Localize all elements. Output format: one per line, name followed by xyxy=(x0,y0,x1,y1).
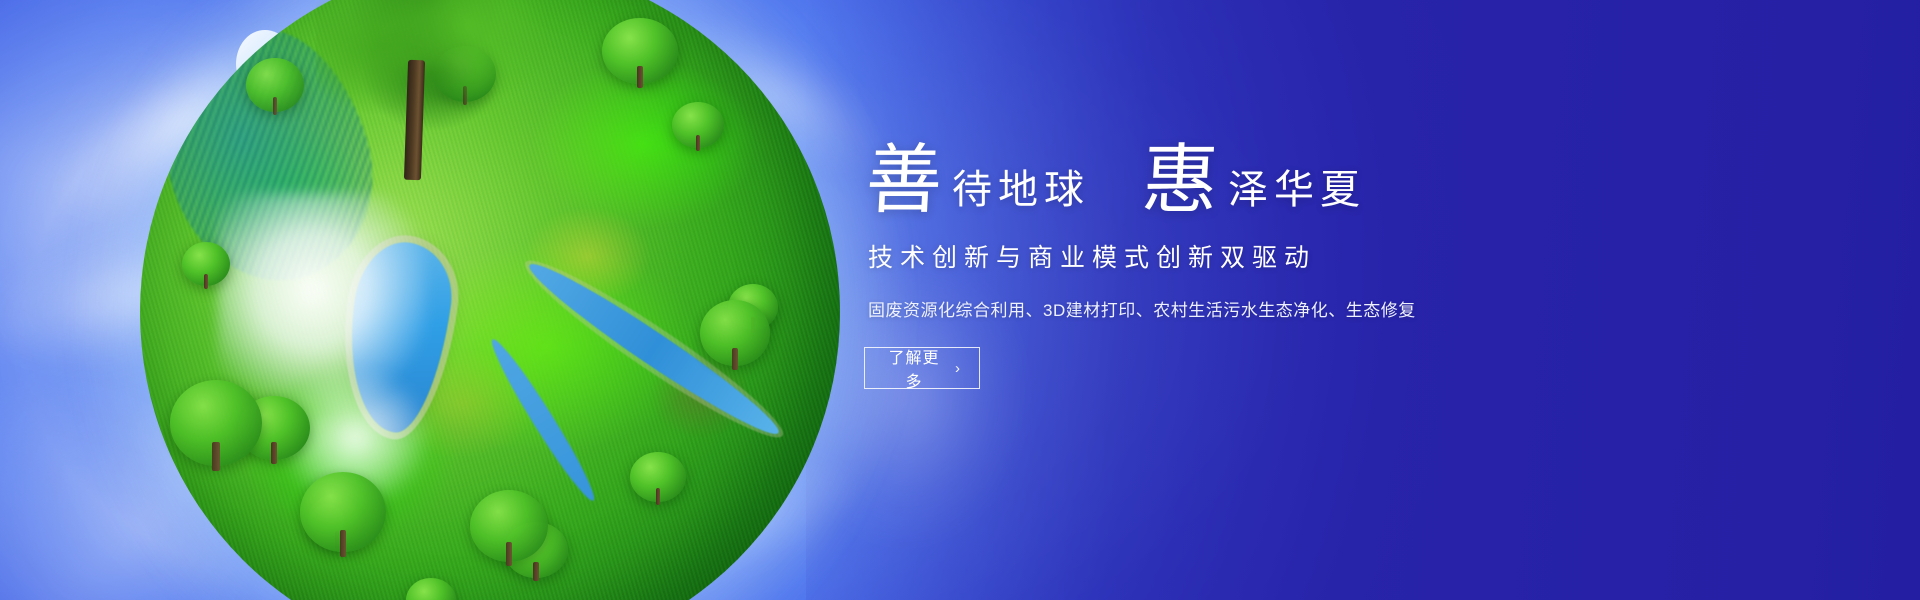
headline-accent-2: 惠 xyxy=(1140,145,1220,218)
learn-more-label: 了解更多 xyxy=(883,344,945,392)
learn-more-button[interactable]: 了解更多 › xyxy=(864,347,980,389)
tree-icon xyxy=(300,472,386,552)
tree-icon xyxy=(602,18,678,84)
tree-icon xyxy=(700,300,770,366)
headline-rest-2: 泽华夏 xyxy=(1218,170,1366,218)
page-title: 善 待地球 惠 泽华夏 xyxy=(866,126,1582,218)
tree-icon xyxy=(316,0,546,130)
hero-description: 固废资源化综合利用、3D建材打印、农村生活污水生态净化、生态修复 xyxy=(868,296,1582,321)
headline-phrase-2: 惠 泽华夏 xyxy=(1142,145,1366,218)
tree-icon xyxy=(246,58,304,112)
tree-icon xyxy=(182,242,230,286)
headline-phrase-1: 善 待地球 xyxy=(866,145,1090,218)
hero-content: 善 待地球 惠 泽华夏 技术创新与商业模式创新双驱动 固废资源化综合利用、3D建… xyxy=(862,126,1582,389)
headline-rest-1: 待地球 xyxy=(942,170,1090,218)
tree-icon xyxy=(630,452,686,502)
headline-accent-1: 善 xyxy=(864,145,944,218)
hero-subtitle: 技术创新与商业模式创新双驱动 xyxy=(868,238,1582,274)
chevron-right-icon: › xyxy=(955,360,961,377)
tree-icon xyxy=(470,490,548,562)
hero-banner: 善 待地球 惠 泽华夏 技术创新与商业模式创新双驱动 固废资源化综合利用、3D建… xyxy=(0,0,1920,600)
tree-icon xyxy=(672,102,724,148)
tree-icon xyxy=(170,380,262,466)
